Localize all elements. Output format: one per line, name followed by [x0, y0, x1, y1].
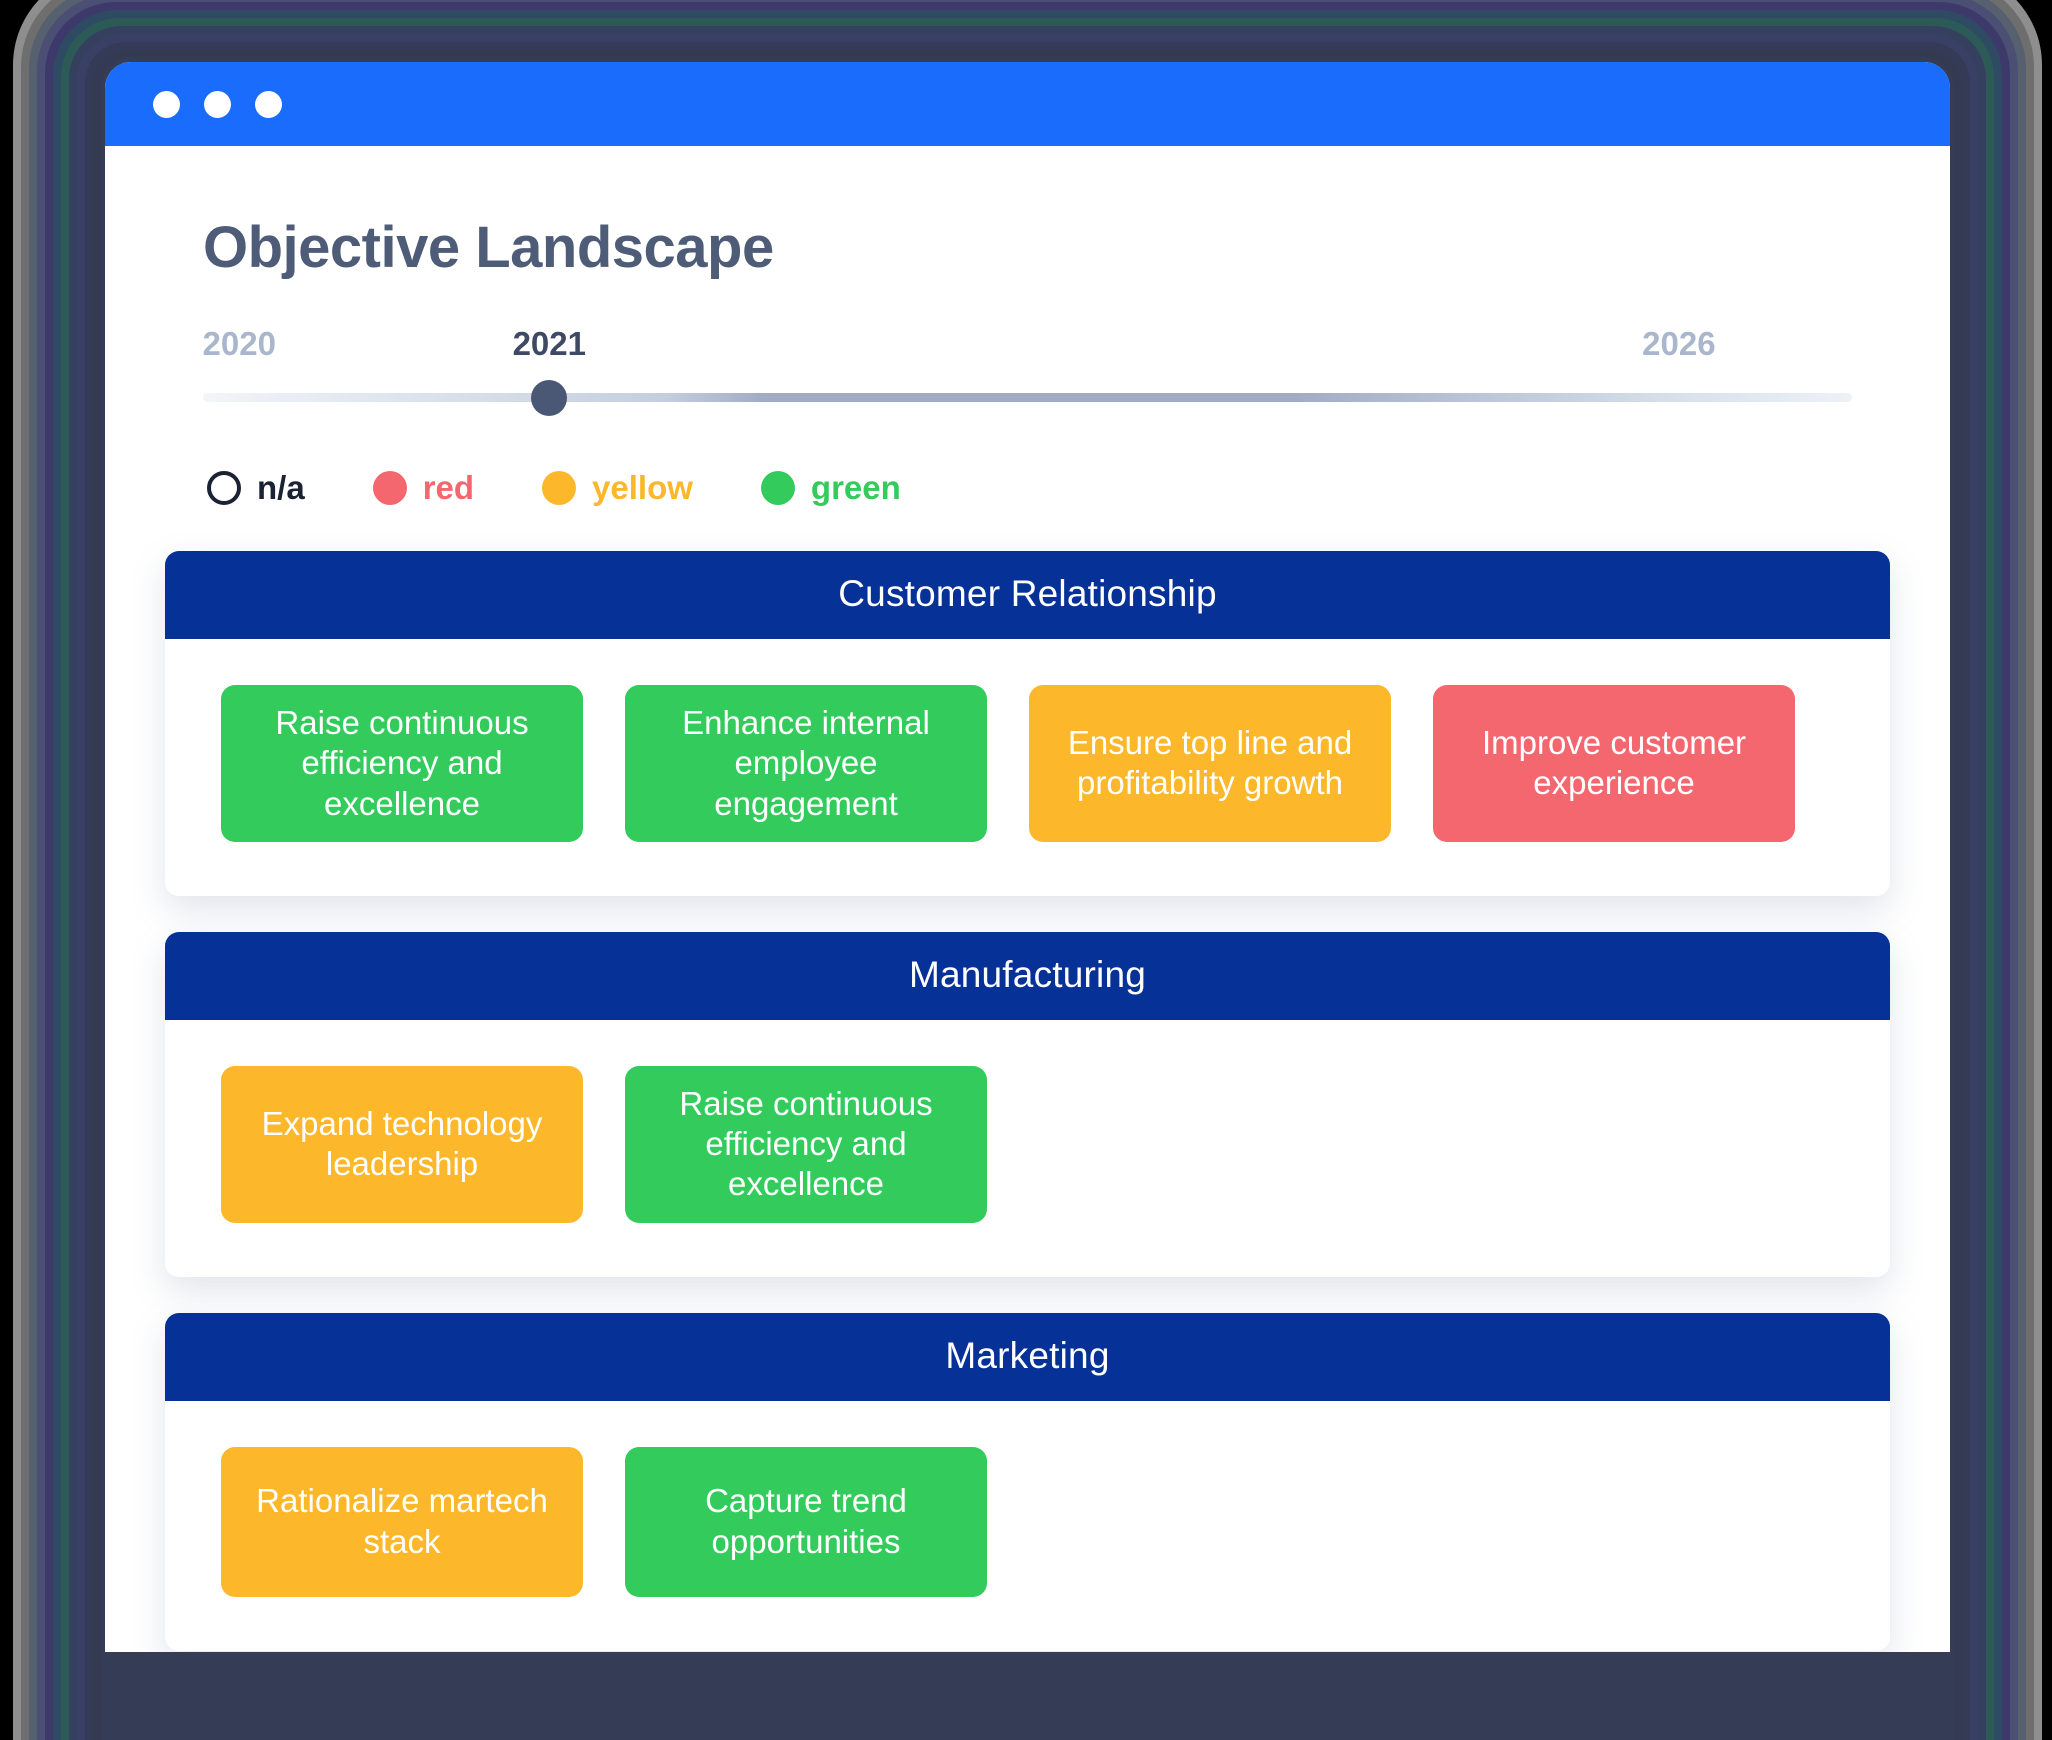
timeline-current-label: 2021 [513, 325, 586, 363]
section-objective-list: Rationalize martech stackCapture trend o… [165, 1401, 1890, 1651]
objective-card[interactable]: Rationalize martech stack [221, 1447, 583, 1597]
objective-card[interactable]: Enhance internal employee engagement [625, 685, 987, 842]
year-timeline-slider[interactable]: 2020 2021 2026 [203, 325, 1852, 431]
window-dot-icon-3[interactable] [255, 91, 282, 118]
page-title: Objective Landscape [105, 146, 1950, 281]
legend-label: green [811, 469, 901, 507]
timeline-handle[interactable] [531, 380, 567, 416]
legend-red-dot-icon [373, 471, 407, 505]
window-dot-icon-2[interactable] [204, 91, 231, 118]
section-header-title: Customer Relationship [165, 551, 1890, 639]
screenshot-stage: Objective Landscape 2020 2021 2026 n/are… [0, 0, 2052, 1740]
legend-label: red [423, 469, 474, 507]
legend-item-red[interactable]: red [373, 469, 474, 507]
timeline-start-label: 2020 [203, 325, 276, 363]
browser-window: Objective Landscape 2020 2021 2026 n/are… [105, 62, 1950, 1652]
section-objective-list: Expand technology leadershipRaise contin… [165, 1020, 1890, 1277]
timeline-end-label: 2026 [1642, 325, 1715, 363]
legend-item-green[interactable]: green [761, 469, 901, 507]
legend-label: n/a [257, 469, 305, 507]
section-header-title: Marketing [165, 1313, 1890, 1401]
legend-na-dot-icon [207, 471, 241, 505]
status-legend: n/aredyellowgreen [207, 469, 1950, 507]
objective-section: MarketingRationalize martech stackCaptur… [165, 1313, 1890, 1651]
window-content: Objective Landscape 2020 2021 2026 n/are… [105, 146, 1950, 1652]
objective-card[interactable]: Ensure top line and profitability growth [1029, 685, 1391, 842]
legend-item-na[interactable]: n/a [207, 469, 305, 507]
objective-sections: Customer RelationshipRaise continuous ef… [165, 551, 1890, 1651]
objective-section: ManufacturingExpand technology leadershi… [165, 932, 1890, 1277]
objective-card[interactable]: Raise continuous efficiency and excellen… [625, 1066, 987, 1223]
objective-card[interactable]: Capture trend opportunities [625, 1447, 987, 1597]
objective-section: Customer RelationshipRaise continuous ef… [165, 551, 1890, 896]
legend-label: yellow [592, 469, 693, 507]
section-header-title: Manufacturing [165, 932, 1890, 1020]
section-objective-list: Raise continuous efficiency and excellen… [165, 639, 1890, 896]
objective-card[interactable]: Raise continuous efficiency and excellen… [221, 685, 583, 842]
legend-green-dot-icon [761, 471, 795, 505]
legend-yellow-dot-icon [542, 471, 576, 505]
window-dot-icon-1[interactable] [153, 91, 180, 118]
timeline-track[interactable] [203, 393, 1852, 402]
legend-item-yellow[interactable]: yellow [542, 469, 693, 507]
window-titlebar [105, 62, 1950, 146]
objective-card[interactable]: Improve customer experience [1433, 685, 1795, 842]
objective-card[interactable]: Expand technology leadership [221, 1066, 583, 1223]
